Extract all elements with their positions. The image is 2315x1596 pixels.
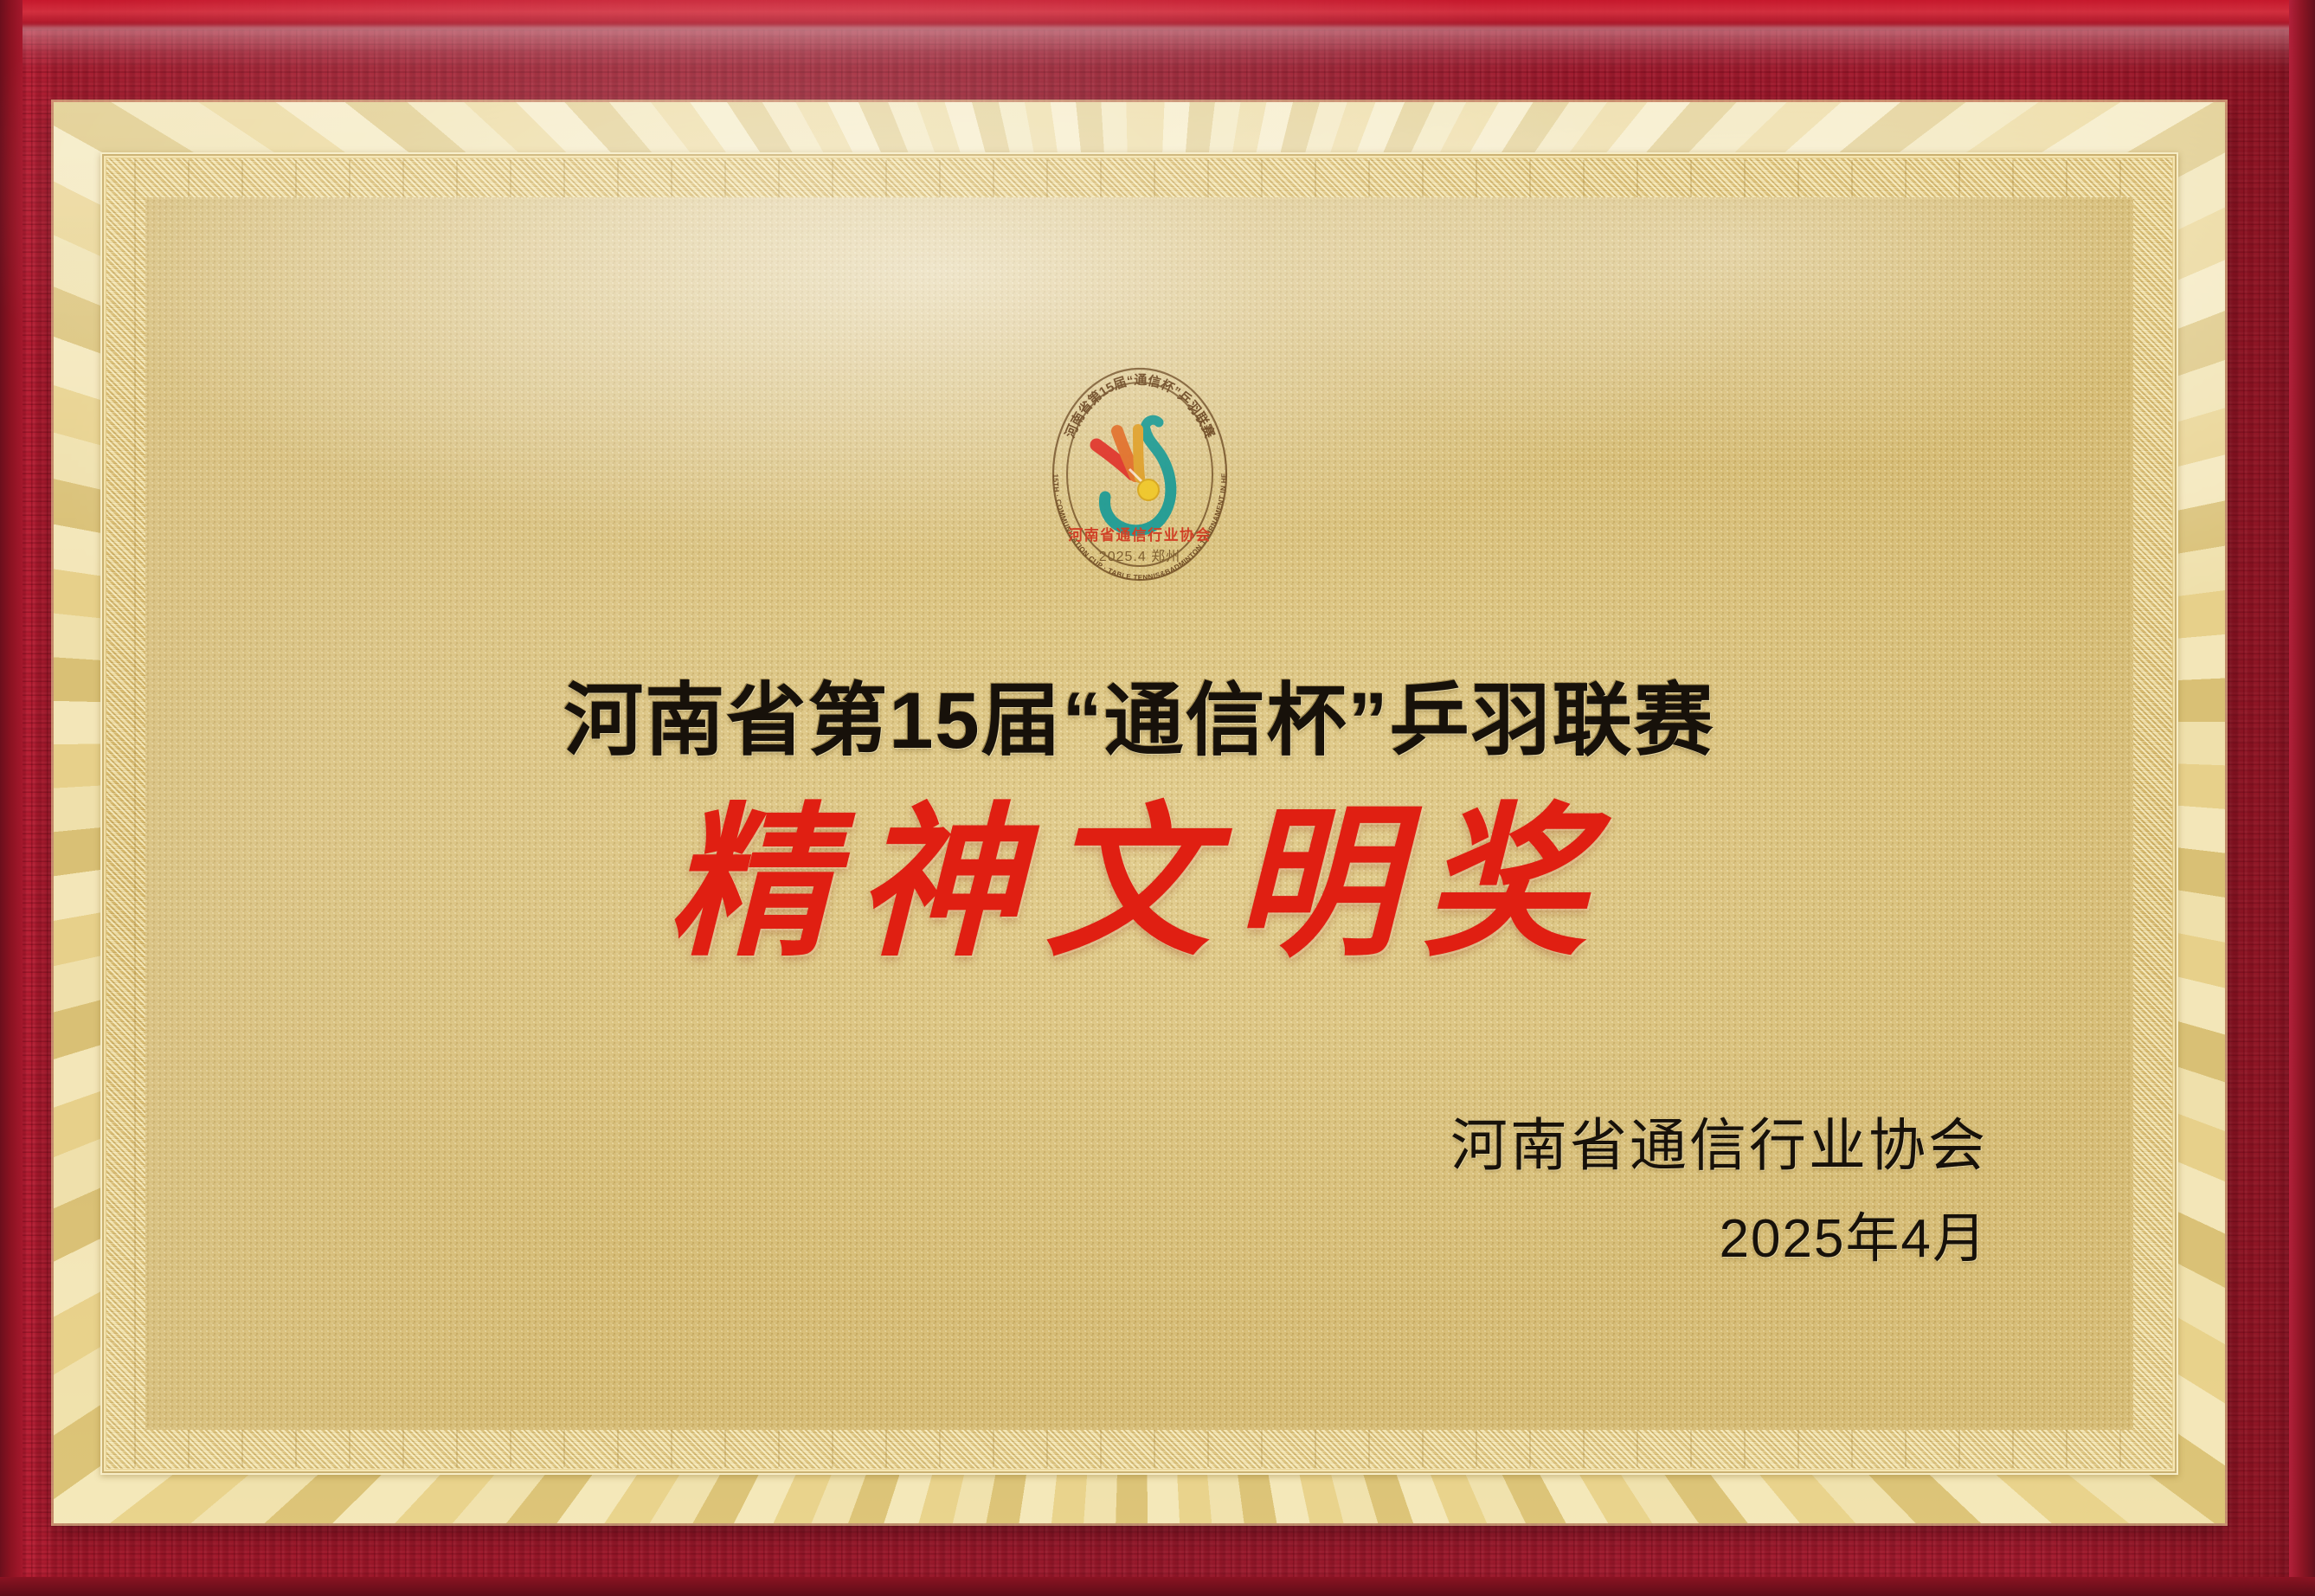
frame-bevel-bottom xyxy=(0,1577,2315,1596)
issue-date: 2025年4月 xyxy=(1450,1194,1988,1272)
award-name: 精神文明奖 xyxy=(145,803,2133,968)
frame-bevel-top xyxy=(0,0,2315,29)
emblem-org-text: 河南省通信行业协会 xyxy=(1068,526,1212,544)
plaque-title: 河南省第15届“通信杯”乒羽联赛 xyxy=(145,656,2133,771)
frame-bevel-right xyxy=(2289,0,2315,1596)
feather-amber xyxy=(1138,429,1140,478)
inscription-field: 河南省第15届“通信杯”乒羽联赛 THE 15TH · COMMUNICATIO… xyxy=(145,197,2133,1430)
tournament-emblem: 河南省第15届“通信杯”乒羽联赛 THE 15TH · COMMUNICATIO… xyxy=(1048,367,1231,582)
emblem-racket-handle xyxy=(1145,420,1159,429)
emblem-date-text: 2025.4 郑州 xyxy=(1098,549,1180,564)
award-plaque-photo: 河南省第15届“通信杯”乒羽联赛 THE 15TH · COMMUNICATIO… xyxy=(0,0,2315,1596)
engraved-border: 河南省第15届“通信杯”乒羽联赛 THE 15TH · COMMUNICATIO… xyxy=(100,152,2178,1475)
frame-bevel-left xyxy=(0,0,23,1596)
frame-highlight-top xyxy=(0,26,2315,71)
signature-block: 河南省通信行业协会 2025年4月 xyxy=(1450,1099,1988,1272)
gold-plate: 河南省第15届“通信杯”乒羽联赛 THE 15TH · COMMUNICATIO… xyxy=(54,102,2225,1523)
issuing-organization: 河南省通信行业协会 xyxy=(1450,1099,1988,1182)
